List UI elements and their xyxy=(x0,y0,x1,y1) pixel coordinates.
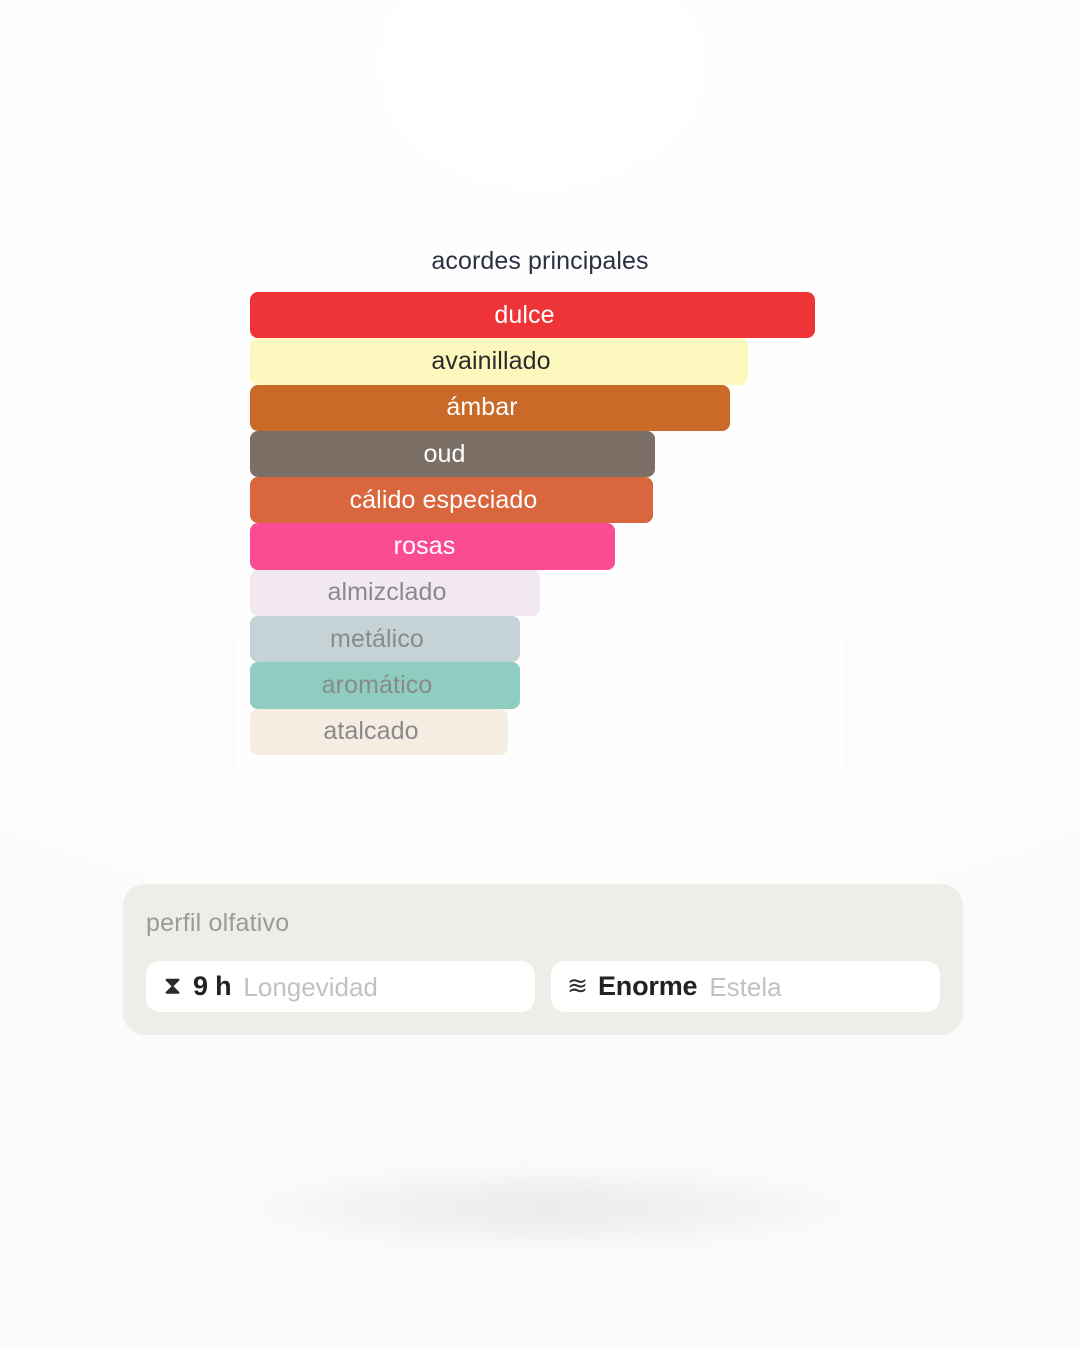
accord-bar-label: cálido especiado xyxy=(350,488,538,513)
profile-chip-value: Enorme xyxy=(598,973,697,1000)
accord-bar-label: ámbar xyxy=(446,395,517,420)
waves-icon: ≋ xyxy=(566,974,589,999)
profile-chip-list: ⧗9 hLongevidad≋EnormeEstela xyxy=(146,961,940,1012)
profile-chip[interactable]: ≋EnormeEstela xyxy=(551,961,940,1012)
accord-bar-row: cálido especiado xyxy=(250,477,830,523)
accord-bar-row: metálico xyxy=(250,616,830,662)
accord-bar-label: oud xyxy=(423,442,465,467)
chart-title: acordes principales xyxy=(235,247,845,276)
accord-bar-label: metálico xyxy=(330,627,424,652)
accord-bar-row: ámbar xyxy=(250,385,830,431)
accord-bar-row: rosas xyxy=(250,523,830,569)
olfactory-profile-title: perfil olfativo xyxy=(146,909,289,938)
accord-bar[interactable]: atalcado xyxy=(250,709,508,755)
accord-bar[interactable]: ámbar xyxy=(250,385,730,431)
bottom-ambient-shadow xyxy=(100,1148,1000,1268)
accord-bar-label: aromático xyxy=(322,673,433,698)
accords-chart-card: acordes principales dulceavainilladoámba… xyxy=(235,233,845,770)
olfactory-profile-panel: perfil olfativo ⧗9 hLongevidad≋EnormeEst… xyxy=(123,884,963,1035)
accord-bar[interactable]: rosas xyxy=(250,523,615,569)
profile-chip-name: Estela xyxy=(709,974,781,1000)
accord-bar-label: avainillado xyxy=(431,349,550,374)
accord-bar-label: rosas xyxy=(394,534,456,559)
accord-bar[interactable]: aromático xyxy=(250,662,520,708)
accord-bar-row: oud xyxy=(250,431,830,477)
accord-bar-row: atalcado xyxy=(250,709,830,755)
accord-bar[interactable]: avainillado xyxy=(250,338,748,384)
accord-bar-label: almizclado xyxy=(327,580,446,605)
accord-bar-label: atalcado xyxy=(323,719,418,744)
accord-bar-row: avainillado xyxy=(250,338,830,384)
accords-bar-list: dulceavainilladoámbaroudcálido especiado… xyxy=(250,292,830,755)
accord-bar-row: dulce xyxy=(250,292,830,338)
accord-bar[interactable]: cálido especiado xyxy=(250,477,653,523)
accord-bar-label: dulce xyxy=(494,303,554,328)
profile-chip-value: 9 h xyxy=(193,973,231,1000)
hourglass-icon: ⧗ xyxy=(161,974,184,999)
accord-bar[interactable]: dulce xyxy=(250,292,815,338)
accord-bar[interactable]: metálico xyxy=(250,616,520,662)
profile-chip[interactable]: ⧗9 hLongevidad xyxy=(146,961,535,1012)
accord-bar[interactable]: oud xyxy=(250,431,655,477)
accord-bar[interactable]: almizclado xyxy=(250,570,540,616)
accord-bar-row: aromático xyxy=(250,662,830,708)
accord-bar-row: almizclado xyxy=(250,570,830,616)
profile-chip-name: Longevidad xyxy=(243,974,377,1000)
